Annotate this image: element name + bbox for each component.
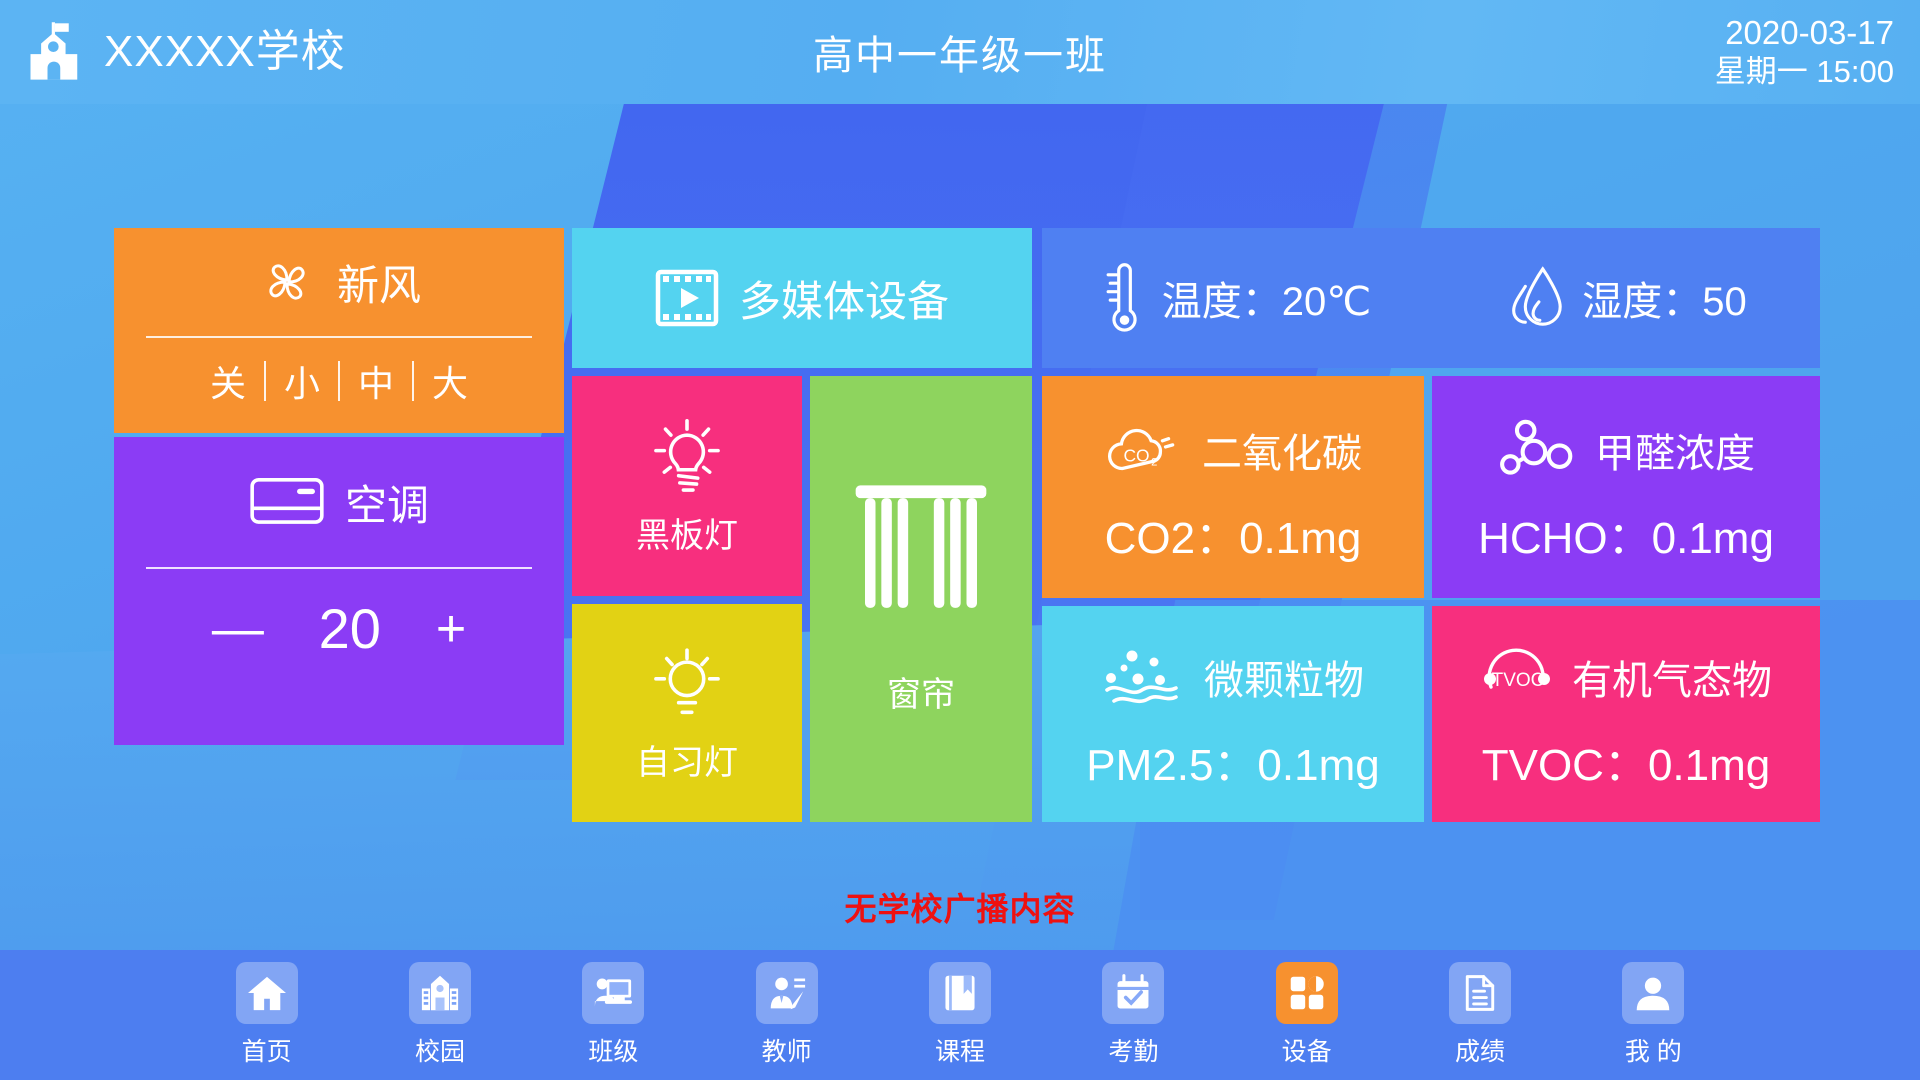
curtain-tile: 窗帘	[810, 376, 1032, 822]
humidity-item: 湿度：50	[1431, 263, 1820, 333]
tvoc-circle-icon: TVOC	[1480, 639, 1556, 715]
hcho-name: 甲醛浓度	[1595, 421, 1755, 479]
ac-temperature-value: 20	[308, 601, 392, 657]
nav-label: 考勤	[1108, 1032, 1158, 1068]
hcho-card: 甲醛浓度 HCHO：0.1mg	[1432, 376, 1820, 598]
air-conditioner-card[interactable]: 空调 — 20 +	[114, 437, 564, 745]
water-drop-icon	[1504, 263, 1566, 333]
tvoc-card: TVOC 有机气态物 TVOC：0.1mg	[1432, 606, 1820, 822]
nav-item-teacher[interactable]: 教师	[700, 962, 873, 1068]
co2-name: 二氧化碳	[1202, 421, 1362, 479]
home-icon	[236, 962, 298, 1024]
molecule-icon	[1497, 418, 1579, 482]
curtain-card[interactable]: 窗帘	[810, 376, 1032, 822]
person-icon	[1622, 962, 1684, 1024]
school-name: XXXXX学校	[104, 30, 346, 74]
tvoc-sensor: TVOC 有机气态物 TVOC：0.1mg	[1432, 606, 1820, 822]
fan-mode-low[interactable]: 小	[266, 355, 338, 407]
svg-text:TVOC: TVOC	[1492, 670, 1545, 691]
humidity-value: 湿度：50	[1582, 269, 1747, 327]
nav-label: 课程	[935, 1032, 985, 1068]
ac-header: 空调	[114, 437, 564, 567]
temperature-humidity-row: 温度：20℃ 湿度：50	[1042, 228, 1820, 368]
brand: XXXXX学校	[22, 18, 346, 86]
nav-item-grades[interactable]: 成绩	[1393, 962, 1566, 1068]
ac-label: 空调	[345, 472, 429, 533]
nav-label: 首页	[242, 1032, 292, 1068]
ac-increase-button[interactable]: +	[436, 603, 466, 655]
app-header: XXXXX学校 高中一年级一班 2020-03-17 星期一 15:00	[0, 0, 1920, 104]
temperature-humidity-card: 温度：20℃ 湿度：50	[1042, 228, 1820, 368]
fan-icon	[257, 252, 317, 312]
calendar-check-icon	[1102, 962, 1164, 1024]
hcho-header: 甲醛浓度	[1432, 398, 1820, 502]
multimedia-label: 多媒体设备	[739, 268, 949, 329]
film-play-icon	[655, 269, 719, 327]
temperature-value: 温度：20℃	[1162, 269, 1371, 327]
fan-card[interactable]: 新风 关 小 中 大	[114, 228, 564, 433]
pm25-name: 微颗粒物	[1204, 648, 1364, 706]
co2-card: CO 2 二氧化碳 CO2：0.1mg	[1042, 376, 1424, 598]
study-light-label: 自习灯	[636, 735, 738, 784]
lightbulb-off-icon	[648, 416, 726, 502]
co2-header: CO 2 二氧化碳	[1042, 398, 1424, 502]
pm25-value: PM2.5：0.1mg	[1042, 729, 1424, 803]
fan-header: 新风	[114, 228, 564, 336]
nav-item-class[interactable]: 班级	[527, 962, 700, 1068]
teacher-icon	[756, 962, 818, 1024]
nav-item-profile[interactable]: 我 的	[1567, 962, 1740, 1068]
particles-icon	[1102, 646, 1188, 708]
school-building-icon	[22, 18, 90, 86]
nav-item-devices[interactable]: 设备	[1220, 962, 1393, 1068]
nav-label: 设备	[1282, 1032, 1332, 1068]
multimedia-card[interactable]: 多媒体设备	[572, 228, 1032, 368]
campus-icon	[409, 962, 471, 1024]
device-grid: 新风 关 小 中 大 空调 — 20	[0, 104, 1920, 874]
nav-label: 班级	[588, 1032, 638, 1068]
current-date: 2020-03-17	[1715, 13, 1894, 53]
pm25-card: 微颗粒物 PM2.5：0.1mg	[1042, 606, 1424, 822]
blackboard-light-card[interactable]: 黑板灯	[572, 376, 802, 596]
bottom-navigation: 首页 校园	[0, 950, 1920, 1080]
fan-label: 新风	[337, 252, 421, 313]
study-light-tile: 自习灯	[572, 604, 802, 822]
tvoc-value: TVOC：0.1mg	[1432, 729, 1820, 803]
svg-text:CO: CO	[1123, 445, 1149, 465]
classroom-icon	[582, 962, 644, 1024]
fan-mode-off[interactable]: 关	[192, 355, 264, 407]
nav-label: 教师	[762, 1032, 812, 1068]
thermometer-icon	[1102, 260, 1146, 336]
nav-label: 校园	[415, 1032, 465, 1068]
hcho-sensor: 甲醛浓度 HCHO：0.1mg	[1432, 376, 1820, 598]
pm25-header: 微颗粒物	[1042, 625, 1424, 729]
co2-sensor: CO 2 二氧化碳 CO2：0.1mg	[1042, 376, 1424, 598]
ac-decrease-button[interactable]: —	[212, 603, 264, 655]
air-conditioner-icon	[249, 475, 325, 529]
nav-item-attendance[interactable]: 考勤	[1047, 962, 1220, 1068]
fan-mode-medium[interactable]: 中	[340, 355, 412, 407]
lightbulb-on-icon	[648, 643, 726, 729]
nav-item-course[interactable]: 课程	[873, 962, 1046, 1068]
co2-cloud-icon: CO 2	[1104, 421, 1186, 479]
fan-mode-selector[interactable]: 关 小 中 大	[114, 338, 564, 424]
fan-mode-high[interactable]: 大	[414, 355, 486, 407]
blackboard-light-tile: 黑板灯	[572, 376, 802, 596]
book-icon	[929, 962, 991, 1024]
document-icon	[1449, 962, 1511, 1024]
current-weekday-time: 星期一 15:00	[1715, 53, 1894, 91]
nav-label: 成绩	[1455, 1032, 1505, 1068]
co2-value: CO2：0.1mg	[1042, 502, 1424, 576]
tvoc-name: 有机气态物	[1572, 648, 1772, 706]
tvoc-header: TVOC 有机气态物	[1432, 625, 1820, 729]
pm25-sensor: 微颗粒物 PM2.5：0.1mg	[1042, 606, 1424, 822]
nav-label: 我 的	[1625, 1032, 1682, 1068]
clock: 2020-03-17 星期一 15:00	[1715, 13, 1894, 91]
nav-item-campus[interactable]: 校园	[353, 962, 526, 1068]
curtain-icon	[851, 483, 991, 623]
ac-temperature-stepper[interactable]: — 20 +	[114, 569, 564, 689]
temperature-item: 温度：20℃	[1042, 260, 1431, 336]
grid-apps-icon	[1276, 962, 1338, 1024]
blackboard-light-label: 黑板灯	[636, 508, 738, 557]
broadcast-message: 无学校广播内容	[0, 884, 1920, 930]
nav-item-home[interactable]: 首页	[180, 962, 353, 1068]
study-light-card[interactable]: 自习灯	[572, 604, 802, 822]
svg-text:2: 2	[1151, 456, 1157, 468]
hcho-value: HCHO：0.1mg	[1432, 502, 1820, 576]
multimedia-header: 多媒体设备	[572, 228, 1032, 368]
curtain-label: 窗帘	[887, 667, 955, 716]
